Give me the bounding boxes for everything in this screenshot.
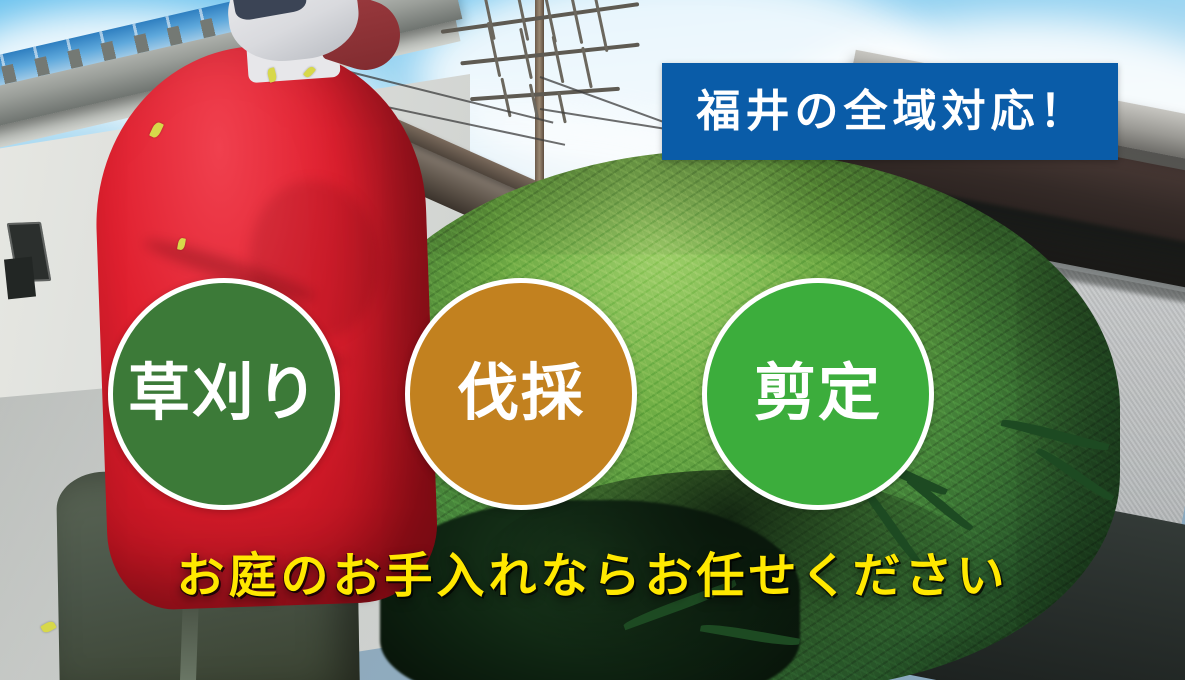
- wall-vent: [4, 257, 36, 300]
- service-circle-label: 伐採: [457, 363, 585, 425]
- service-circle-group: 草刈り 伐採 剪定: [108, 278, 934, 510]
- service-circle-bassai[interactable]: 伐採: [405, 278, 637, 510]
- service-circle-label: 草刈り: [128, 363, 320, 425]
- service-circle-sentei[interactable]: 剪定: [702, 278, 934, 510]
- tagline-text: お庭のお手入れならお任せください: [0, 552, 1185, 602]
- coverage-area-banner: 福井の全域対応！: [662, 63, 1118, 160]
- service-circle-kusakari[interactable]: 草刈り: [108, 278, 340, 510]
- advertisement-banner: 福井の全域対応！ 草刈り 伐採 剪定 お庭のお手入れならお任せください: [0, 0, 1185, 680]
- coverage-area-banner-text: 福井の全域対応！: [692, 90, 1089, 134]
- service-circle-label: 剪定: [754, 363, 882, 425]
